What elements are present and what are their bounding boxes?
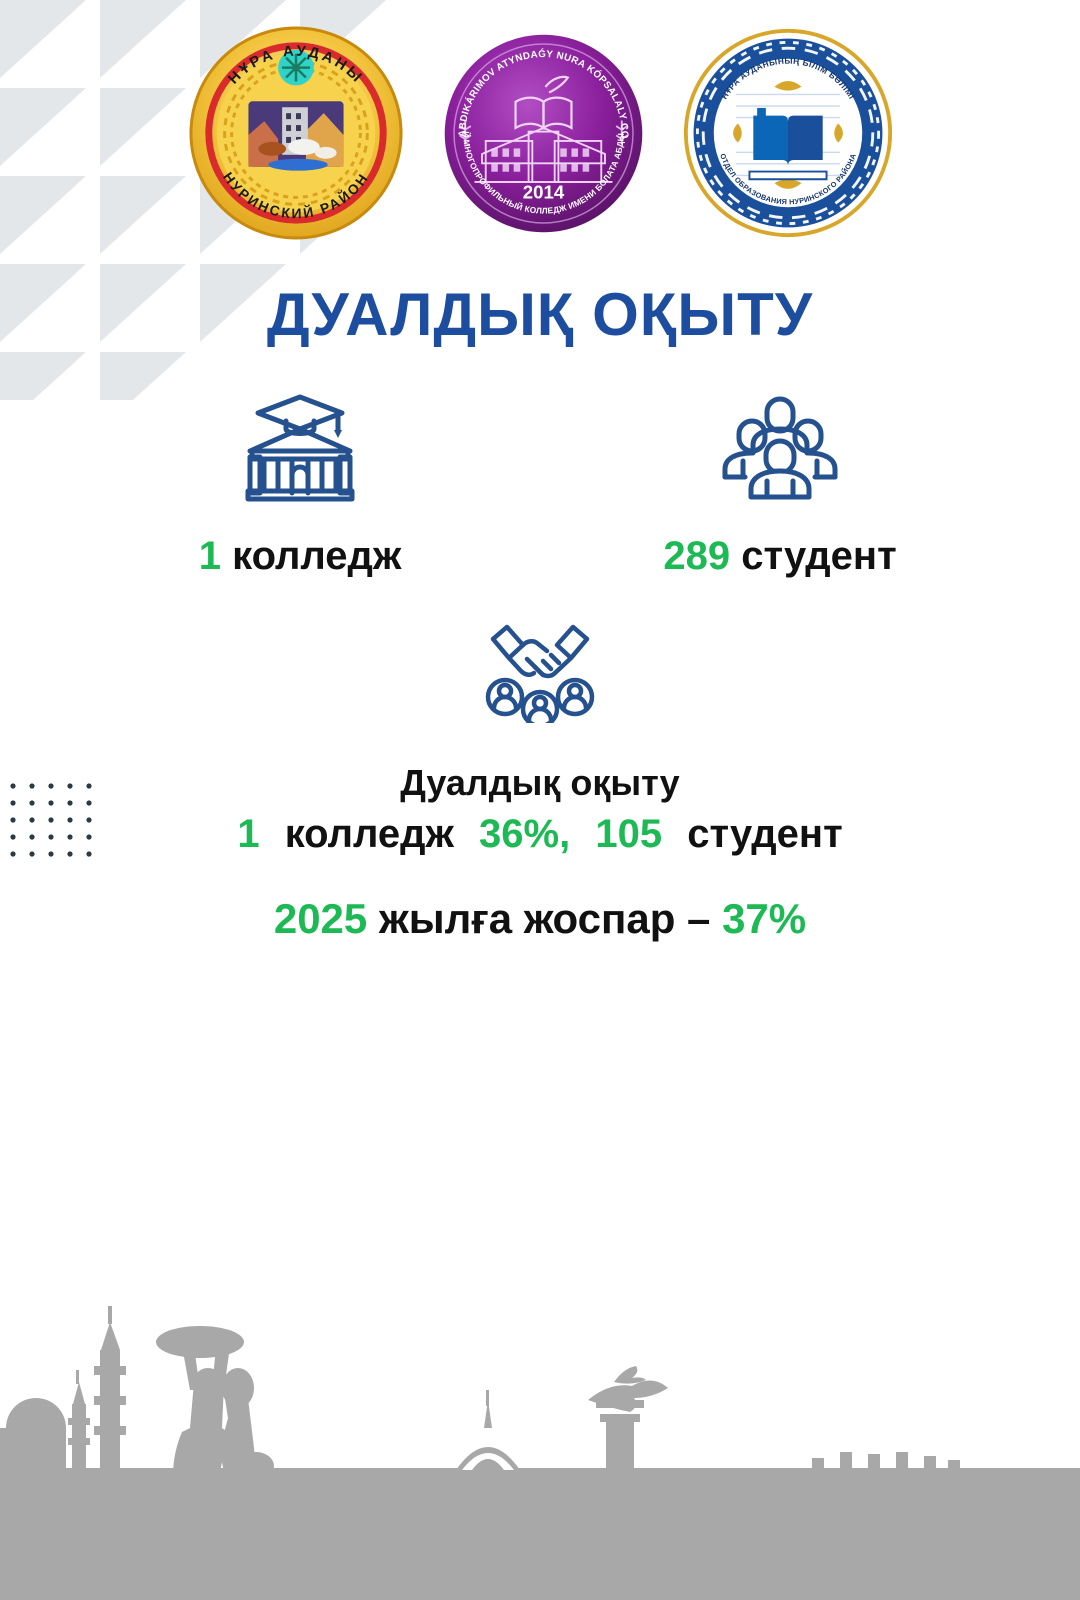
dual-plan-year: 2025 — [274, 895, 367, 942]
dual-colleges-unit: колледж — [285, 812, 454, 856]
page-title: ДУАЛДЫҚ ОҚЫТУ — [0, 283, 1080, 346]
stat-students-unit: студент — [741, 534, 896, 578]
dual-plan-percent: 37% — [722, 895, 806, 942]
emblem-row: НҰРА АУДАНЫ НУРИНСКИЙ РАЙОН — [0, 18, 1080, 248]
stat-college-label: 1 колледж — [199, 534, 402, 579]
dual-summary-line: 1 колледж 36%, 105 студент — [237, 812, 842, 857]
bolat-abdikarimov-college-emblem: 2014 BOLAT ABDIKÁRIMOV ATYNDAǴY NURA KÓP… — [441, 31, 646, 236]
dual-education-block: Дуалдық оқыту 1 колледж 36%, 105 студент… — [0, 604, 1080, 943]
dual-colleges-percent: 36%, — [479, 812, 570, 856]
nura-district-emblem: НҰРА АУДАНЫ НУРИНСКИЙ РАЙОН — [187, 24, 405, 242]
stat-students: 289 студент — [540, 392, 1020, 579]
stat-college: 1 колледж — [60, 392, 540, 579]
poster-root: НҰРА АУДАНЫ НУРИНСКИЙ РАЙОН — [0, 0, 1080, 1600]
dual-students-unit: студент — [687, 812, 842, 856]
dual-colleges-value: 1 — [237, 812, 259, 856]
handshake-partners-icon — [475, 604, 605, 724]
students-group-icon — [715, 392, 845, 502]
stat-college-unit: колледж — [232, 534, 401, 578]
dual-plan-text: жылға жоспар – — [379, 895, 710, 942]
dual-plan-line: 2025 жылға жоспар – 37% — [274, 895, 806, 943]
city-skyline-silhouette — [0, 1270, 1080, 1600]
dual-students-value: 105 — [595, 812, 662, 856]
college-building-icon — [238, 392, 362, 502]
stat-students-label: 289 студент — [663, 534, 896, 579]
emblem-year: 2014 — [522, 181, 564, 202]
dual-heading: Дуалдық оқыту — [400, 762, 679, 804]
stat-college-value: 1 — [199, 534, 221, 578]
nura-education-department-emblem: НҰРА АУДАНЫНЫҢ БІЛІМ БӨЛІМІ ОТДЕЛ ОБРАЗО… — [682, 27, 894, 239]
stat-students-value: 289 — [663, 534, 730, 578]
stats-row: 1 колледж — [0, 392, 1080, 579]
